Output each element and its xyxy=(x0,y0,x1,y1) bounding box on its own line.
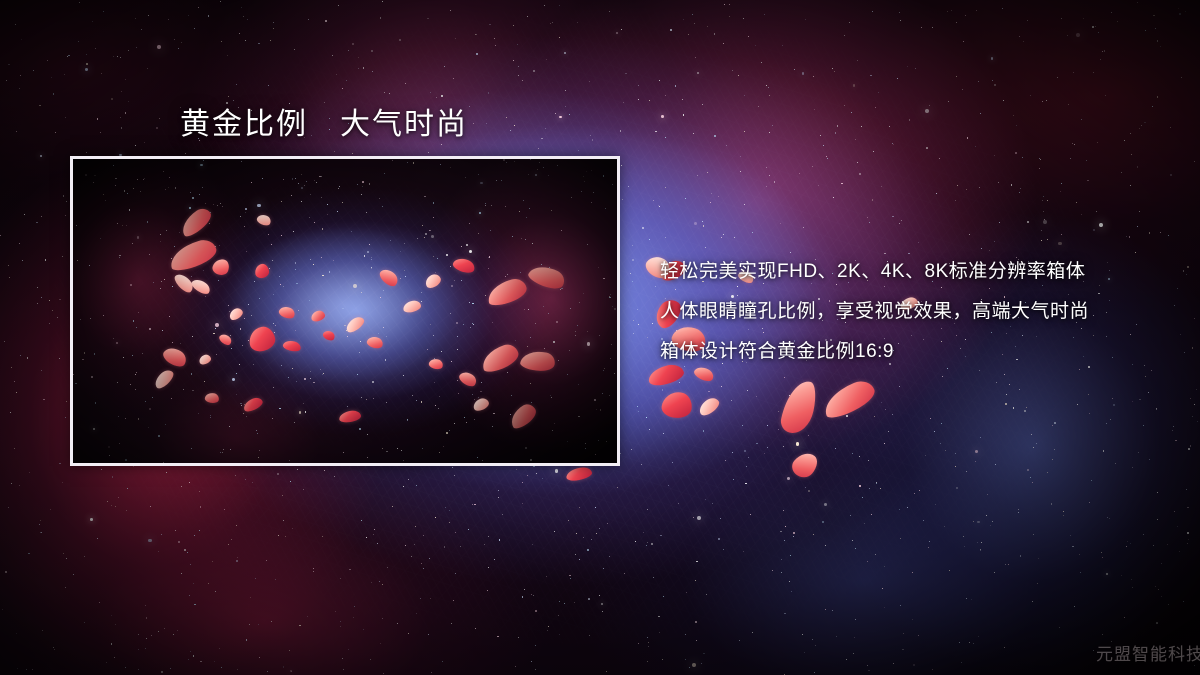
page-title: 黄金比例 大气时尚 xyxy=(180,99,468,143)
inset-vignette xyxy=(73,159,617,463)
slide-canvas: 黄金比例 大气时尚 轻松完美实现FHD、2K、4K、8K标准分辨率箱体 人体眼睛… xyxy=(0,0,1200,675)
body-line-3: 箱体设计符合黄金比例16:9 xyxy=(660,332,1130,372)
body-text-block: 轻松完美实现FHD、2K、4K、8K标准分辨率箱体 人体眼睛瞳孔比例，享受视觉效… xyxy=(660,252,1130,372)
framed-image[interactable] xyxy=(70,156,620,466)
body-line-2: 人体眼睛瞳孔比例，享受视觉效果，高端大气时尚 xyxy=(660,292,1130,332)
body-line-1: 轻松完美实现FHD、2K、4K、8K标准分辨率箱体 xyxy=(660,252,1130,292)
watermark: 元盟智能科技 xyxy=(1096,640,1200,665)
